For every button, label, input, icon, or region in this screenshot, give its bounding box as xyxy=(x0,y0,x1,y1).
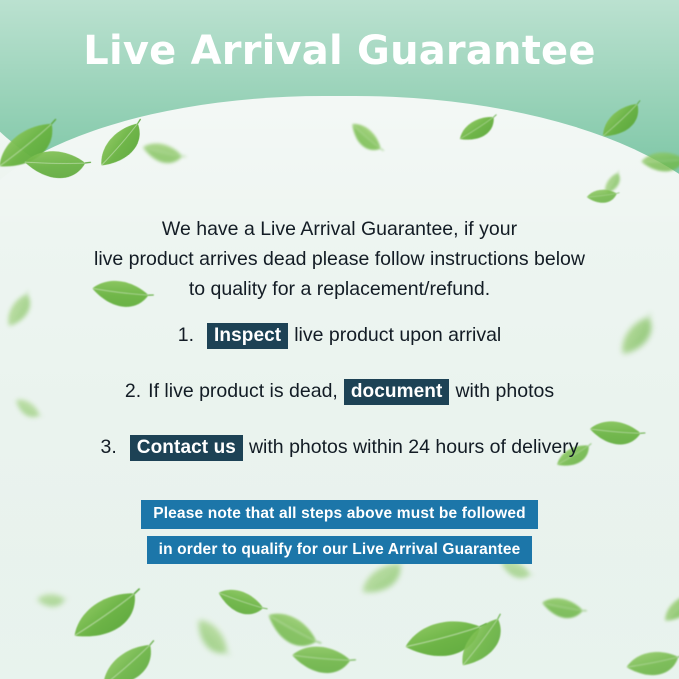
live-arrival-guarantee-poster: Live Arrival Guarantee We have a Live Ar… xyxy=(0,0,679,679)
step-number-1: 1. xyxy=(178,324,194,347)
step-number-2: 2. xyxy=(125,380,141,403)
step-number-3: 3. xyxy=(101,436,117,459)
content-area: We have a Live Arrival Guarantee, if you… xyxy=(0,0,679,679)
step-item-1: 1. Inspect live product upon arrival xyxy=(0,320,679,351)
step-highlight-contact-us: Contact us xyxy=(130,435,243,461)
step-text-1: live product upon arrival xyxy=(294,324,501,347)
step-item-3: 3. Contact us with photos within 24 hour… xyxy=(0,432,679,463)
step-text-2: with photos xyxy=(455,380,554,403)
step-pretext-2: If live product is dead, xyxy=(148,380,338,403)
intro-line-1: We have a Live Arrival Guarantee, if you… xyxy=(50,214,629,244)
intro-line-2: live product arrives dead please follow … xyxy=(50,244,629,274)
step-text-3: with photos within 24 hours of delivery xyxy=(249,436,579,459)
important-note-banner: Please note that all steps above must be… xyxy=(0,500,679,564)
intro-paragraph: We have a Live Arrival Guarantee, if you… xyxy=(50,214,629,304)
steps-list: 1. Inspect live product upon arrival 2. … xyxy=(0,320,679,488)
intro-line-3: to quality for a replacement/refund. xyxy=(50,274,629,304)
step-highlight-inspect: Inspect xyxy=(207,323,288,349)
note-line-1: Please note that all steps above must be… xyxy=(141,500,538,529)
note-line-2: in order to qualify for our Live Arrival… xyxy=(147,536,533,565)
step-item-2: 2. If live product is dead, document wit… xyxy=(0,376,679,407)
step-highlight-document: document xyxy=(344,379,450,405)
page-title: Live Arrival Guarantee xyxy=(0,29,679,73)
